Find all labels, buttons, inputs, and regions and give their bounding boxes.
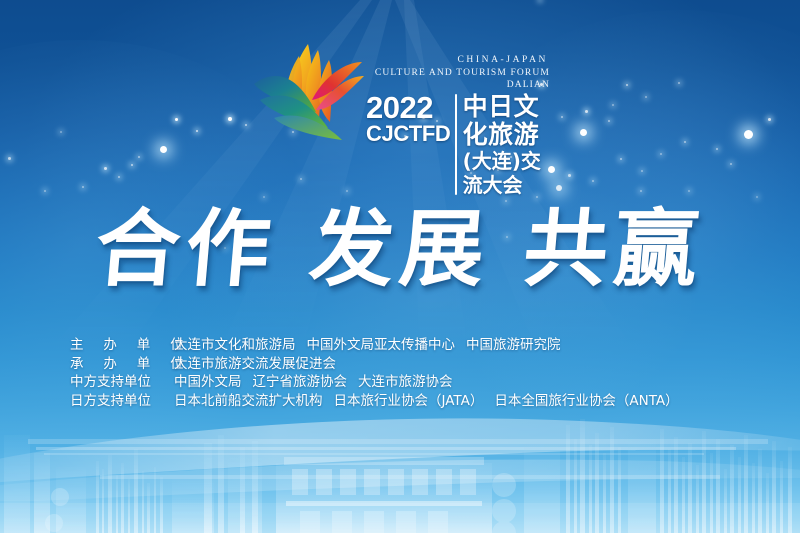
organizer-value: 大连市旅游协会 [358, 374, 453, 390]
organizer-value: 辽宁省旅游协会 [253, 374, 348, 390]
event-chinese-title-main: 中日文化旅游 [463, 93, 552, 149]
event-chinese-title: 中日文化旅游 (大连)交流大会 [463, 93, 552, 197]
slogan-word-2: 发展 [306, 200, 495, 298]
event-english-title-line2: CULTURE AND TOURISM FORUM DALIAN [366, 67, 552, 92]
event-year: 2022 [366, 93, 433, 122]
organizer-value: 大连市文化和旅游局 [174, 337, 296, 353]
conference-poster: CHINA-JAPAN CULTURE AND TOURISM FORUM DA… [0, 0, 800, 533]
phoenix-flame-logo [252, 38, 364, 146]
organizer-value: 日本北前船交流扩大机构 [174, 393, 323, 409]
organizer-label-host: 主 办 单 位 [70, 336, 174, 355]
organizer-row-undertaker: 承 办 单 位 大连市旅游交流发展促进会 [70, 355, 679, 374]
slogan-word-1: 合作 [92, 200, 281, 298]
organizer-row-china-support: 中方支持单位 中国外文局辽宁省旅游协会大连市旅游协会 [70, 373, 679, 392]
organizer-row-japan-support: 日方支持单位 日本北前船交流扩大机构日本旅行业协会（JATA）日本全国旅行业协会… [70, 392, 679, 411]
event-title-row: 2022 CJCTFD 中日文化旅游 (大连)交流大会 [366, 93, 552, 197]
organizer-values-undertaker: 大连市旅游交流发展促进会 [174, 355, 336, 374]
organizer-value: 中国外文局 [174, 374, 242, 390]
organizer-value: 日本旅行业协会（JATA） [334, 393, 484, 409]
organizer-value: 日本全国旅行业协会（ANTA） [494, 393, 678, 409]
organizer-list: 主 办 单 位 大连市文化和旅游局中国外文局亚太传播中心中国旅游研究院 承 办 … [70, 336, 679, 410]
organizer-value: 中国外文局亚太传播中心 [307, 337, 456, 353]
organizer-label-undertaker: 承 办 单 位 [70, 355, 174, 374]
organizer-values-china-support: 中国外文局辽宁省旅游协会大连市旅游协会 [174, 373, 453, 392]
organizer-values-host: 大连市文化和旅游局中国外文局亚太传播中心中国旅游研究院 [174, 336, 561, 355]
organizer-label-china-support: 中方支持单位 [70, 373, 174, 392]
title-divider [455, 94, 456, 195]
event-slogan: 合作发展共赢 [0, 196, 800, 302]
organizer-value: 中国旅游研究院 [466, 337, 561, 353]
event-acronym: CJCTFD [366, 122, 450, 145]
organizer-value: 大连市旅游交流发展促进会 [174, 356, 336, 372]
organizer-values-japan-support: 日本北前船交流扩大机构日本旅行业协会（JATA）日本全国旅行业协会（ANTA） [174, 392, 679, 411]
event-chinese-title-sub: (大连)交流大会 [463, 149, 552, 197]
organizer-label-japan-support: 日方支持单位 [70, 392, 174, 411]
slogan-word-3: 共赢 [520, 200, 709, 298]
event-english-title-line1: CHINA-JAPAN [366, 55, 552, 67]
event-year-acronym: 2022 CJCTFD [366, 93, 455, 197]
organizer-row-host: 主 办 单 位 大连市文化和旅游局中国外文局亚太传播中心中国旅游研究院 [70, 336, 679, 355]
event-logo-lockup: CHINA-JAPAN CULTURE AND TOURISM FORUM DA… [252, 38, 552, 148]
